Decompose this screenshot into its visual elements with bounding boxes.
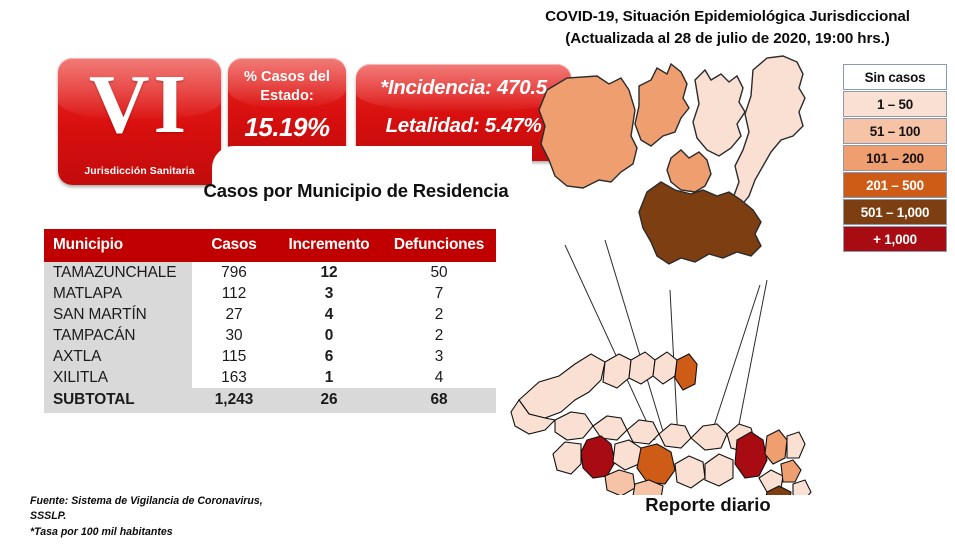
region-matlapa [667,150,711,192]
percent-state-label-line1: % Casos del [228,68,346,87]
table-row: XILITLA 163 1 4 [44,367,496,388]
jurisdiction-subtitle: Jurisdicción Sanitaria [58,166,221,177]
state-muni [787,432,805,458]
cell-defunciones: 3 [382,346,496,367]
state-muni [653,352,677,384]
cell-incremento: 3 [276,283,382,304]
table-header-row: Municipio Casos Incremento Defunciones [44,229,496,262]
state-muni [793,480,811,495]
incidencia-value: *Incidencia: 470.5 [356,76,571,100]
legend-item: 201 – 500 [843,172,947,198]
cell-casos: 115 [192,346,276,367]
column-header-municipio: Municipio [44,229,192,262]
state-muni [637,444,675,484]
source-footnote: Fuente: Sistema de Vigilancia de Coronav… [30,494,360,540]
state-muni [581,436,615,478]
source-line3: *Tasa por 100 mil habitantes [30,525,360,540]
state-muni [603,354,631,388]
cell-defunciones: 2 [382,325,496,346]
table-row: AXTLA 115 6 3 [44,346,496,367]
cell-casos: 30 [192,325,276,346]
state-muni [555,412,593,440]
state-muni [553,442,581,474]
reporte-diario-label: Reporte diario [598,494,818,516]
legend-item: + 1,000 [843,226,947,252]
cell-incremento: 12 [276,262,382,283]
legend-item: 501 – 1,000 [843,199,947,225]
region-san-martin [693,70,745,156]
state-muni [675,354,697,390]
state-muni [735,432,767,478]
cell-subtotal-label: SUBTOTAL [44,388,192,413]
map-legend: Sin casos 1 – 50 51 – 100 101 – 200 201 … [843,64,947,253]
cell-defunciones: 4 [382,367,496,388]
cell-municipio: XILITLA [44,367,192,388]
percent-state-label: % Casos del Estado: [228,68,346,105]
cell-municipio: SAN MARTÍN [44,304,192,325]
state-muni [519,354,605,418]
legend-item: Sin casos [843,64,947,90]
state-muni [705,454,733,486]
map-container [505,40,855,495]
percent-state-label-line2: Estado: [228,87,346,106]
legend-item: 1 – 50 [843,91,947,117]
cell-casos: 112 [192,283,276,304]
letalidad-value: Letalidad: 5.47% [356,114,571,138]
cell-defunciones: 50 [382,262,496,283]
column-header-casos: Casos [192,229,276,262]
cell-municipio: TAMAZUNCHALE [44,262,192,283]
source-line2: SSSLP. [30,509,360,524]
state-muni [765,430,787,464]
page-title-line1: COVID-19, Situación Epidemiológica Juris… [505,6,950,28]
callout-lines [565,240,767,445]
region-axtla [635,64,689,146]
cell-municipio: AXTLA [44,346,192,367]
cell-municipio: TAMPACÁN [44,325,192,346]
column-header-defunciones: Defunciones [382,229,496,262]
state-muni [605,470,635,495]
cell-casos: 27 [192,304,276,325]
state-muni [659,424,691,448]
jurisdiction-map [539,56,805,264]
cell-casos: 796 [192,262,276,283]
cell-incremento: 4 [276,304,382,325]
choropleth-maps [505,40,855,495]
cell-defunciones: 7 [382,283,496,304]
table-subtotal-row: SUBTOTAL 1,243 26 68 [44,388,496,413]
legend-item: 101 – 200 [843,145,947,171]
cell-subtotal-casos: 1,243 [192,388,276,413]
jurisdiction-badge: VI Jurisdicción Sanitaria [58,58,221,185]
percent-state-badge: % Casos del Estado: 15.19% [228,58,346,160]
region-tampacan [733,56,805,206]
cell-incremento: 1 [276,367,382,388]
legend-item: 51 – 100 [843,118,947,144]
table-row: MATLAPA 112 3 7 [44,283,496,304]
cell-subtotal-defunciones: 68 [382,388,496,413]
cell-municipio: MATLAPA [44,283,192,304]
table-row: TAMPACÁN 30 0 2 [44,325,496,346]
infographic-root: COVID-19, Situación Epidemiológica Juris… [0,0,955,548]
column-header-incremento: Incremento [276,229,382,262]
table-row: SAN MARTÍN 27 4 2 [44,304,496,325]
source-line1: Fuente: Sistema de Vigilancia de Coronav… [30,494,360,509]
percent-state-value: 15.19% [228,112,346,143]
jurisdiction-roman-numeral: VI [58,62,221,149]
state-muni [675,456,705,488]
state-muni [781,460,801,482]
cell-incremento: 0 [276,325,382,346]
state-muni [691,424,727,450]
cell-incremento: 6 [276,346,382,367]
table-row: TAMAZUNCHALE 796 12 50 [44,262,496,283]
state-muni [613,440,641,470]
cell-subtotal-incremento: 26 [276,388,382,413]
cell-casos: 163 [192,367,276,388]
section-title: Casos por Municipio de Residencia [176,180,536,202]
cases-table: Municipio Casos Incremento Defunciones T… [44,229,496,413]
state-muni [629,352,655,384]
cell-defunciones: 2 [382,304,496,325]
state-muni [627,420,659,444]
